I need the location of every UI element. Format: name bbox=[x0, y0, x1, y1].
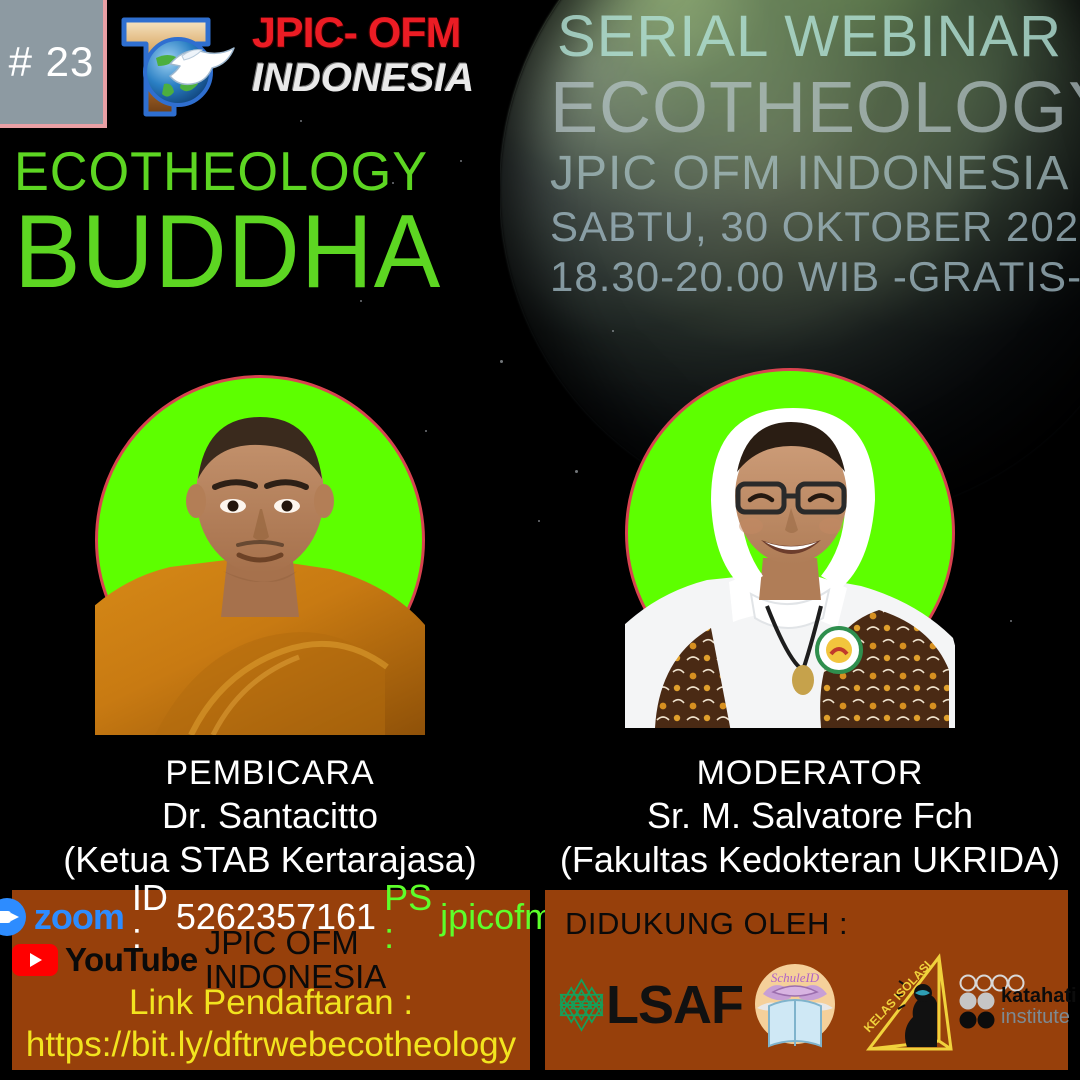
poster-title: ECOTHEOLOGY BUDDHA bbox=[14, 142, 484, 304]
schuleid-book-icon: SchuleID bbox=[745, 950, 845, 1058]
youtube-row[interactable]: YouTube JPIC OFM INDONESIA bbox=[12, 940, 530, 980]
brand-line-jpic-ofm: JPIC- OFM bbox=[252, 10, 502, 56]
header-date: SABTU, 30 OKTOBER 2021 bbox=[550, 202, 1062, 252]
supporter-schuleid[interactable]: SchuleID bbox=[745, 950, 845, 1060]
brand-line-indonesia: INDONESIA bbox=[252, 56, 502, 100]
speaker-caption: PEMBICARA Dr. Santacitto (Ketua STAB Ker… bbox=[0, 752, 540, 882]
speaker-photo bbox=[95, 375, 425, 705]
supporter-katahati-institute[interactable]: katahati institute bbox=[959, 970, 1064, 1040]
supporters-heading: DIDUKUNG OLEH : bbox=[565, 906, 848, 942]
supporters-logos: LSAF SchuleID bbox=[553, 945, 1061, 1065]
lsaf-star-lattice-icon bbox=[553, 951, 610, 1059]
youtube-wordmark: YouTube bbox=[65, 943, 198, 977]
moderator-role: MODERATOR bbox=[540, 752, 1080, 794]
buddhist-monk-illustration bbox=[95, 375, 425, 735]
join-info-panel: zoom ID : 5262357161 PS : jpicofm YouTub… bbox=[12, 890, 530, 1070]
webinar-poster: # 23 bbox=[0, 0, 1080, 1080]
catholic-sister-illustration bbox=[625, 368, 955, 728]
jpic-ofm-tau-globe-dove-icon bbox=[112, 10, 242, 122]
supporter-lsaf[interactable]: LSAF bbox=[553, 950, 743, 1060]
kelas-isolasi-icon: KELAS ISOLASI bbox=[847, 945, 959, 1065]
moderator-photo bbox=[625, 368, 955, 698]
webinar-header: SERIAL WEBINAR ECOTHEOLOGY JPIC OFM INDO… bbox=[550, 4, 1062, 302]
header-organizer: JPIC OFM INDONESIA bbox=[550, 146, 1062, 202]
moderator-affiliation: (Fakultas Kedokteran UKRIDA) bbox=[540, 838, 1080, 882]
header-time: 18.30-20.00 WIB -GRATIS- bbox=[550, 252, 1062, 302]
jpic-ofm-logo-block: JPIC- OFM INDONESIA bbox=[112, 6, 502, 126]
speaker-name: Dr. Santacitto bbox=[0, 794, 540, 838]
katahati-label-bottom: institute bbox=[1001, 1007, 1077, 1028]
schuleid-label: SchuleID bbox=[771, 970, 820, 985]
zoom-camera-icon bbox=[0, 898, 26, 936]
supporters-panel: DIDUKUNG OLEH : bbox=[545, 890, 1068, 1070]
supporter-kelas-isolasi[interactable]: KELAS ISOLASI bbox=[847, 945, 957, 1065]
issue-number-badge: # 23 bbox=[0, 0, 107, 128]
header-serial-webinar: SERIAL WEBINAR bbox=[550, 4, 1062, 70]
title-line-ecotheology: ECOTHEOLOGY bbox=[14, 142, 461, 200]
title-line-buddha: BUDDHA bbox=[14, 200, 465, 304]
issue-number-label: # 23 bbox=[9, 38, 95, 86]
moderator-name: Sr. M. Salvatore Fch bbox=[540, 794, 1080, 838]
speaker-affiliation: (Ketua STAB Kertarajasa) bbox=[0, 838, 540, 882]
katahati-label-top: katahati bbox=[1001, 986, 1077, 1007]
zoom-wordmark: zoom bbox=[34, 898, 124, 936]
moderator-caption: MODERATOR Sr. M. Salvatore Fch (Fakultas… bbox=[540, 752, 1080, 882]
header-topic: ECOTHEOLOGY bbox=[550, 70, 1062, 146]
lsaf-label: LSAF bbox=[606, 974, 743, 1036]
registration-url[interactable]: https://bit.ly/dftrwebecotheology bbox=[12, 1024, 530, 1066]
speaker-role: PEMBICARA bbox=[0, 752, 540, 794]
youtube-play-icon bbox=[12, 944, 58, 976]
